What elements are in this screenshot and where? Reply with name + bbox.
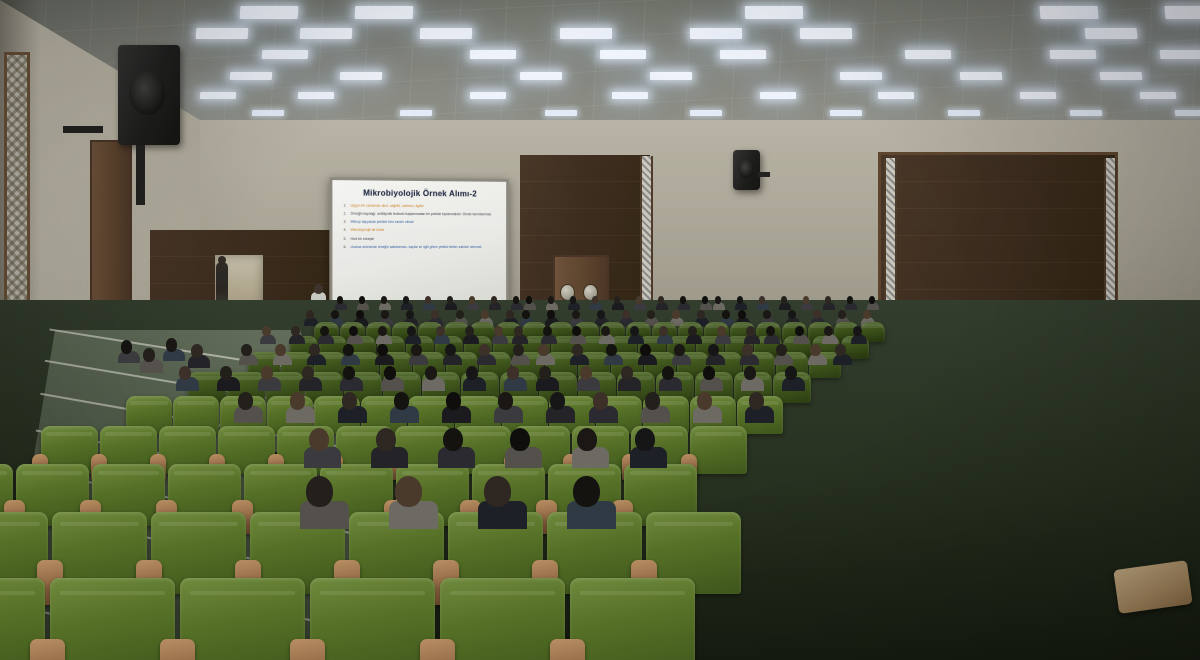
slide-bullet: 5.Hızlı bir süreçte (344, 236, 500, 241)
ceiling-light (298, 92, 334, 99)
student-head (795, 326, 804, 336)
projection-screen: Mikrobiyolojik Örnek Alımı-2 1.Uygun bir… (329, 177, 509, 313)
student-head (431, 310, 439, 319)
student-head (592, 296, 599, 304)
student-head (302, 366, 314, 380)
back-wood-paneling-right (878, 152, 1118, 322)
student-head (384, 366, 396, 380)
ceiling-light (1160, 50, 1200, 59)
ceiling-light (830, 110, 862, 116)
student-head (306, 476, 333, 507)
student-head (570, 296, 577, 304)
auditorium-seat[interactable] (440, 578, 565, 660)
student-head (356, 310, 364, 319)
student-head (697, 310, 705, 319)
student-head (376, 428, 396, 451)
seat-armrest (550, 639, 585, 660)
student-head (395, 476, 422, 507)
student-head (484, 476, 511, 507)
student-head (320, 326, 329, 336)
student-head (744, 366, 756, 380)
student-head (238, 392, 254, 410)
slide-bullet-number: 4. (344, 228, 347, 233)
student-head (788, 310, 796, 319)
student-head (580, 366, 592, 380)
ceiling-light (690, 110, 722, 116)
student-head (465, 326, 474, 336)
slide-bullet-text: Örneğin kaynağı: antibiyotik tedavisi ba… (351, 212, 492, 217)
slide-bullet-text: Uzama sürecinde örneğin saklanması, kapl… (351, 245, 482, 250)
slide-bullet: 4.Mikrobiyolojik alt izolat (344, 228, 500, 233)
student-head (548, 296, 555, 304)
seat-armrest (290, 639, 325, 660)
student-head (572, 344, 582, 356)
student-head (606, 344, 616, 356)
student-head (715, 296, 722, 304)
ceiling-light (1070, 110, 1103, 116)
ceiling-light (252, 110, 284, 116)
student-head (522, 310, 530, 319)
student-head (647, 310, 655, 319)
slide-bullet-number: 5. (344, 236, 347, 241)
student-head (702, 296, 709, 304)
student-head (776, 344, 786, 356)
student-head (697, 392, 713, 410)
student-head (680, 296, 687, 304)
student-head (425, 366, 437, 380)
seat-armrest (420, 639, 455, 660)
student-head (781, 296, 788, 304)
student-head (343, 366, 355, 380)
right-speaker-bracket (758, 172, 770, 177)
student-head (491, 296, 498, 304)
student-head (645, 392, 661, 410)
student-head (573, 476, 600, 507)
student-head (621, 366, 633, 380)
student-head (456, 310, 464, 319)
ceiling-light (878, 92, 914, 99)
student-head (514, 326, 523, 336)
student-head (703, 366, 715, 380)
student-head (506, 310, 514, 319)
student-head (466, 366, 478, 380)
student-head (614, 296, 621, 304)
slide-bullet-text: Hızlı bir süreçte (351, 236, 374, 241)
student-head (593, 392, 609, 410)
student-head (526, 296, 533, 304)
student-head (377, 344, 387, 356)
auditorium-seat[interactable] (690, 426, 747, 474)
student-head (853, 326, 862, 336)
student-head (220, 366, 232, 380)
student-head (275, 344, 285, 356)
seat-armrest (160, 639, 195, 660)
student-head (738, 310, 746, 319)
student-head (291, 326, 300, 336)
student-head (381, 296, 388, 304)
student-head (425, 296, 432, 304)
student-head (507, 366, 519, 380)
slide-bullet-number: 1. (344, 203, 347, 208)
student-head (810, 344, 820, 356)
student-head (359, 296, 366, 304)
ceiling-light (960, 72, 1003, 80)
ceiling-light (1175, 110, 1200, 116)
student-head (403, 296, 410, 304)
ceiling-light (420, 28, 472, 39)
student-head (722, 310, 730, 319)
student-head (572, 310, 580, 319)
slide-bullet-text: Uygun bir zamanda; akut, sağlıklı, sabır… (351, 204, 424, 209)
ceiling-light (840, 72, 882, 80)
student-head (381, 310, 389, 319)
student-head (411, 344, 421, 356)
auditorium-seat[interactable] (180, 578, 305, 660)
student-head (658, 296, 665, 304)
student-head (241, 344, 251, 356)
student-head (577, 428, 597, 451)
student-head (447, 296, 454, 304)
slide-bullet-text: Mikrobiyolojik alt izolat (351, 228, 385, 233)
student-head (378, 326, 387, 336)
student-head (342, 392, 358, 410)
decorative-wall-strip-right-outer (1104, 158, 1117, 318)
student-head (406, 310, 414, 319)
student-head (824, 326, 833, 336)
ceiling-light (262, 50, 309, 59)
student-head (622, 310, 630, 319)
slide-bullet: 1.Uygun bir zamanda; akut, sağlıklı, sab… (344, 203, 500, 209)
ceiling-light (600, 50, 646, 59)
student-head (550, 392, 566, 410)
slide-bullet-number: 3. (344, 220, 347, 225)
slide-bullet: 6.Uzama sürecinde örneğin saklanması, ka… (344, 245, 500, 250)
student-head (659, 326, 668, 336)
student-head (179, 366, 191, 380)
student-head (349, 326, 358, 336)
ceiling-light (760, 92, 796, 99)
student-head (445, 344, 455, 356)
student-head (262, 326, 271, 336)
ceiling-light (745, 6, 803, 19)
person-in-doorway-head (218, 256, 226, 264)
student-head (436, 326, 445, 336)
ceiling-light (1050, 50, 1097, 59)
student-head (785, 366, 797, 380)
ceiling-light (948, 110, 980, 116)
left-speaker-bracket (63, 126, 103, 133)
student-head (538, 344, 548, 356)
student-head (331, 310, 339, 319)
auditorium-seat[interactable] (310, 578, 435, 660)
speaker-cone-right (738, 160, 754, 178)
ceiling-light (1164, 6, 1200, 19)
student-head (688, 326, 697, 336)
student-head (407, 326, 416, 336)
ceiling-light (905, 50, 952, 59)
student-head (601, 326, 610, 336)
student-head (838, 310, 846, 319)
auditorium-seat[interactable] (50, 578, 175, 660)
student-head (640, 344, 650, 356)
student-head (510, 428, 530, 451)
ceiling-light (1085, 28, 1138, 39)
student-head (825, 296, 832, 304)
student-head (763, 310, 771, 319)
ceiling-light (470, 92, 506, 99)
student-head (306, 310, 314, 319)
student-head (446, 392, 462, 410)
student-head (469, 296, 476, 304)
student-head (803, 296, 810, 304)
slide-bullet-number: 6. (344, 245, 347, 250)
slide-title: Mikrobiyolojik Örnek Alımı-2 (340, 188, 500, 198)
student-head (737, 296, 744, 304)
student-head (343, 344, 353, 356)
student-head (309, 344, 319, 356)
ceiling-light (612, 92, 648, 99)
student-head (759, 296, 766, 304)
slide-bullet-list: 1.Uygun bir zamanda; akut, sağlıklı, sab… (340, 203, 500, 249)
student-head (513, 344, 523, 356)
student-head (717, 326, 726, 336)
student-head (742, 344, 752, 356)
student-head (746, 326, 755, 336)
ceiling-light (650, 72, 692, 80)
ceiling-light (720, 50, 766, 59)
slide-bullet-text: Mikrop taşıyacak şekilde tüm zararlı olm… (351, 220, 414, 225)
ceiling-light (340, 72, 382, 80)
wall-speaker-right (733, 150, 760, 190)
student-head (443, 428, 463, 451)
student-head (672, 310, 680, 319)
student-head (572, 326, 581, 336)
student-head (662, 366, 674, 380)
student-head (539, 366, 551, 380)
ceiling-light (1100, 72, 1143, 80)
student-head (630, 326, 639, 336)
student-head (869, 296, 876, 304)
ceiling-light (1140, 92, 1177, 99)
student-head (847, 296, 854, 304)
student-head (674, 344, 684, 356)
student-head (337, 296, 344, 304)
presenter-head (314, 284, 323, 294)
decorative-wall-strip-right-inner (884, 158, 897, 318)
student-head (749, 392, 765, 410)
auditorium-seat[interactable] (570, 578, 695, 660)
ceiling-light (545, 110, 577, 116)
slide-bullet-number: 2. (344, 212, 347, 217)
student-head (481, 310, 489, 319)
student-head (261, 366, 273, 380)
student-head (494, 326, 503, 336)
student-head (813, 310, 821, 319)
student-head (636, 296, 643, 304)
left-speaker-pole (136, 145, 145, 205)
student-head (835, 344, 845, 356)
ceiling-light (300, 28, 353, 39)
student-head (513, 296, 520, 304)
slide-bullet: 3.Mikrop taşıyacak şekilde tüm zararlı o… (344, 220, 500, 225)
wall-speaker-left (118, 45, 180, 145)
student-head (543, 326, 552, 336)
student-head (498, 392, 514, 410)
speaker-cone-left (129, 71, 165, 115)
student-head (121, 340, 133, 354)
presentation-slide: Mikrobiyolojik Örnek Alımı-2 1.Uygun bir… (332, 180, 506, 310)
ceiling-light (560, 28, 612, 39)
seat-armrest (30, 639, 65, 660)
student-head (708, 344, 718, 356)
ceiling-light (230, 72, 273, 80)
ceiling-light (240, 6, 299, 19)
student-head (309, 428, 329, 451)
student-head (863, 310, 871, 319)
student-head (547, 310, 555, 319)
student-head (479, 344, 489, 356)
student-head (143, 348, 155, 362)
ceiling-light (1039, 6, 1098, 19)
ceiling-light (520, 72, 562, 80)
ceiling-light (470, 50, 516, 59)
ceiling-light (355, 6, 414, 19)
ceiling-light (196, 28, 249, 39)
ceiling-light (800, 28, 852, 39)
student-head (191, 344, 203, 358)
ceiling-light (400, 110, 432, 116)
student-head (166, 338, 178, 352)
student-head (766, 326, 775, 336)
slide-bullet: 2.Örneğin kaynağı: antibiyotik tedavisi … (344, 212, 500, 218)
ceiling-light (1020, 92, 1057, 99)
student-head (597, 310, 605, 319)
ceiling-light (200, 92, 237, 99)
student-head (635, 428, 655, 451)
ceiling-light (690, 28, 742, 39)
lecture-hall-photo: Mikrobiyolojik Örnek Alımı-2 1.Uygun bir… (0, 0, 1200, 660)
student-head (394, 392, 410, 410)
student-head (290, 392, 306, 410)
